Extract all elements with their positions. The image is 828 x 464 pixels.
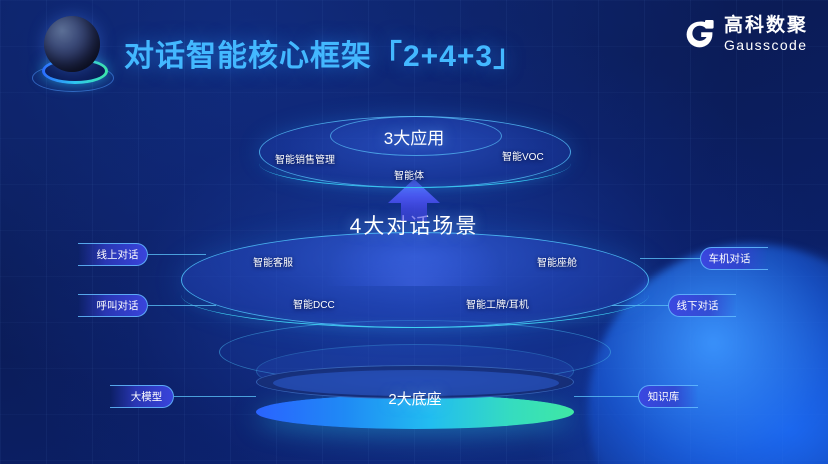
application-layer-title: 3大应用: [0, 124, 828, 149]
label-smart-badge-headset: 智能工牌/耳机: [466, 296, 529, 311]
framework-diagram: 2大底座 4大对话场景 智能客服 智能座舱 智能DCC 智能工牌/耳机: [0, 0, 828, 464]
label-smart-voc: 智能VOC: [502, 148, 544, 163]
tag-large-model[interactable]: 大模型: [110, 385, 174, 408]
scenario-ellipse-rim: [181, 262, 649, 328]
tag-knowledge-base[interactable]: 知识库: [638, 385, 698, 408]
tag-call-dialog[interactable]: 呼叫对话: [78, 294, 148, 317]
tag-vehicle-dialog[interactable]: 车机对话: [700, 247, 768, 270]
connector-knowledge-base: [574, 396, 638, 397]
label-agent: 智能体: [394, 167, 424, 182]
label-smart-cockpit: 智能座舱: [537, 254, 577, 269]
connector-vehicle-dialog: [640, 258, 700, 259]
tag-offline-dialog[interactable]: 线下对话: [668, 294, 736, 317]
label-smart-dcc: 智能DCC: [293, 296, 335, 311]
connector-online-dialog: [148, 254, 206, 255]
slide-canvas: 对话智能核心框架「2+4+3」 高科数聚 Gausscode 2大底座: [0, 0, 828, 464]
connector-offline-dialog: [612, 305, 668, 306]
label-smart-sales-management: 智能销售管理: [275, 151, 335, 166]
tag-online-dialog[interactable]: 线上对话: [78, 243, 148, 266]
foundation-layer-title: 2大底座: [256, 388, 574, 409]
label-smart-customer-service: 智能客服: [253, 254, 293, 269]
connector-call-dialog: [148, 305, 216, 306]
connector-large-model: [174, 396, 256, 397]
